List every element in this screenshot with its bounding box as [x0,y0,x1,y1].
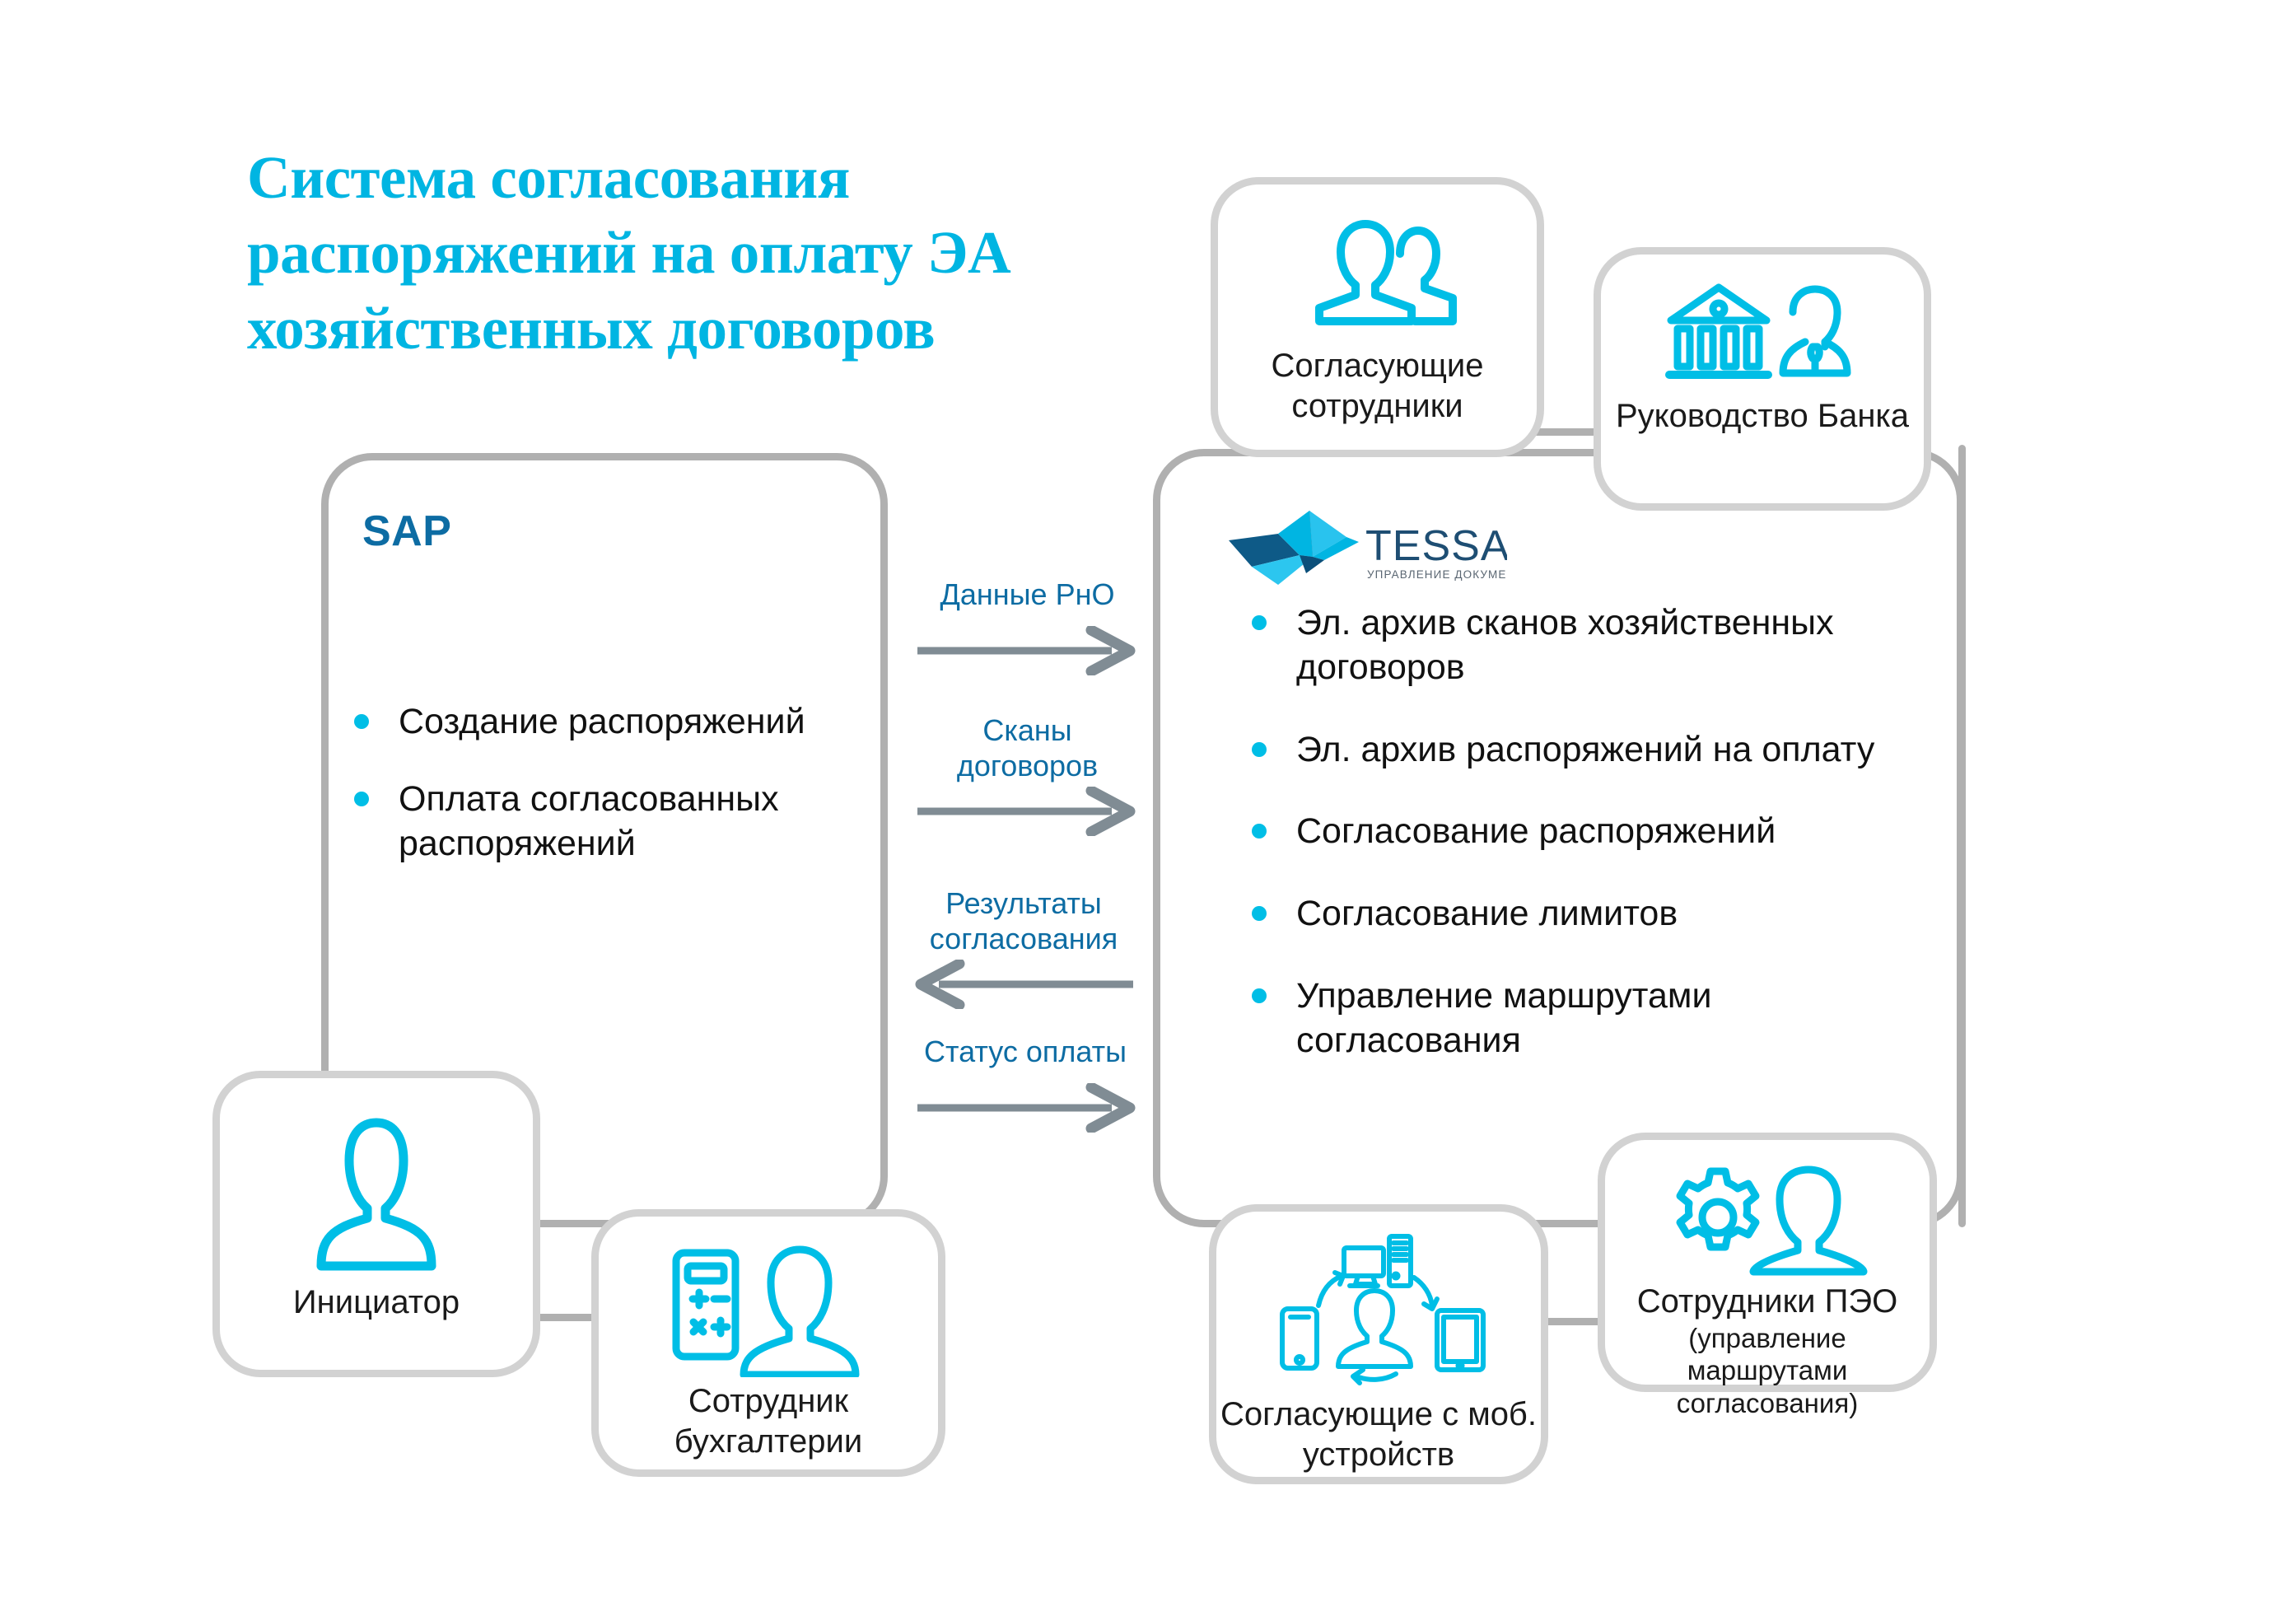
tessa-bullet-list: Эл. архив сканов хозяйственных договоров… [1252,601,1902,1100]
list-item: Согласование распоряжений [1252,810,1902,854]
list-item: Оплата согласованных распоряжений [354,778,856,867]
list-item: Эл. архив сканов хозяйственных договоров [1252,601,1902,690]
arrow-label-3: Статус оплаты [906,1034,1145,1069]
card-management[interactable]: Руководство Банка [1594,247,1931,511]
list-item: Создание распоряжений [354,700,856,745]
sap-bullet-0: Создание распоряжений [399,700,805,745]
bullet-dot-icon [354,714,369,729]
tessa-bullet-4: Управление маршрутами согласования [1296,974,1902,1063]
sap-bullet-1: Оплата согласованных распоряжений [399,778,856,867]
arrow-label-0: Данные РнО [910,577,1145,612]
origami-bird-icon [1229,511,1359,585]
tessa-wordmark: TESSA [1365,522,1507,570]
sap-bullet-list: Создание распоряжений Оплата согласованн… [354,700,856,899]
tessa-bullet-3: Согласование лимитов [1296,892,1678,937]
bank-and-person-icon [1659,278,1865,385]
card-initiator[interactable]: Инициатор [212,1071,540,1377]
diagram-canvas: Система согласования распоряжений на опл… [0,0,2296,1607]
arrow-label-1: Сканы договоров [910,712,1145,783]
arrow-right-3 [914,1083,1136,1133]
bullet-dot-icon [1252,906,1267,921]
tessa-tagline: УПРАВЛЕНИЕ ДОКУМЕНТАМИ [1367,568,1507,581]
card-peo-sublabel: (управление маршрутами согласования) [1605,1322,1930,1420]
card-approvers[interactable]: Согласующие сотрудники [1211,177,1544,457]
bullet-dot-icon [1252,988,1267,1003]
gear-person-icon [1664,1163,1870,1278]
bullet-dot-icon [1252,742,1267,757]
card-approvers-label: Согласующие сотрудники [1218,346,1537,427]
bullet-dot-icon [354,792,369,806]
card-mobile[interactable]: Согласующие с моб. устройств [1209,1204,1548,1484]
tessa-bullet-0: Эл. архив сканов хозяйственных договоров [1296,601,1902,690]
arrow-left-2 [914,960,1136,1009]
tessa-bullet-1: Эл. архив распоряжений на оплату [1296,728,1874,773]
card-peo[interactable]: Сотрудники ПЭО (управление маршрутами со… [1598,1133,1937,1392]
bullet-dot-icon [1252,615,1267,630]
tessa-logo: TESSA УПРАВЛЕНИЕ ДОКУМЕНТАМИ [1227,509,1507,596]
list-item: Согласование лимитов [1252,892,1902,937]
tessa-bullet-2: Согласование распоряжений [1296,810,1776,854]
person-icon [306,1113,446,1278]
card-accountant-label: Сотрудник бухгалтерии [599,1381,938,1462]
arrow-label-2: Результаты согласования [900,885,1147,956]
arrow-right-0 [914,626,1136,675]
arrow-right-1 [914,787,1136,836]
bullet-dot-icon [1252,824,1267,839]
two-people-icon [1291,216,1464,331]
list-item: Управление маршрутами согласования [1252,974,1902,1063]
calculator-person-icon [668,1241,870,1377]
card-management-label: Руководство Банка [1601,396,1924,437]
sap-title: SAP [362,507,451,556]
multi-device-person-icon [1267,1230,1490,1386]
page-title: Система согласования распоряжений на опл… [247,140,1169,366]
card-initiator-label: Инициатор [220,1282,533,1323]
card-accountant[interactable]: Сотрудник бухгалтерии [591,1209,945,1477]
list-item: Эл. архив распоряжений на оплату [1252,728,1902,773]
card-mobile-label: Согласующие с моб. устройств [1216,1394,1541,1475]
card-peo-label: Сотрудники ПЭО (управление маршрутами со… [1605,1282,1930,1420]
